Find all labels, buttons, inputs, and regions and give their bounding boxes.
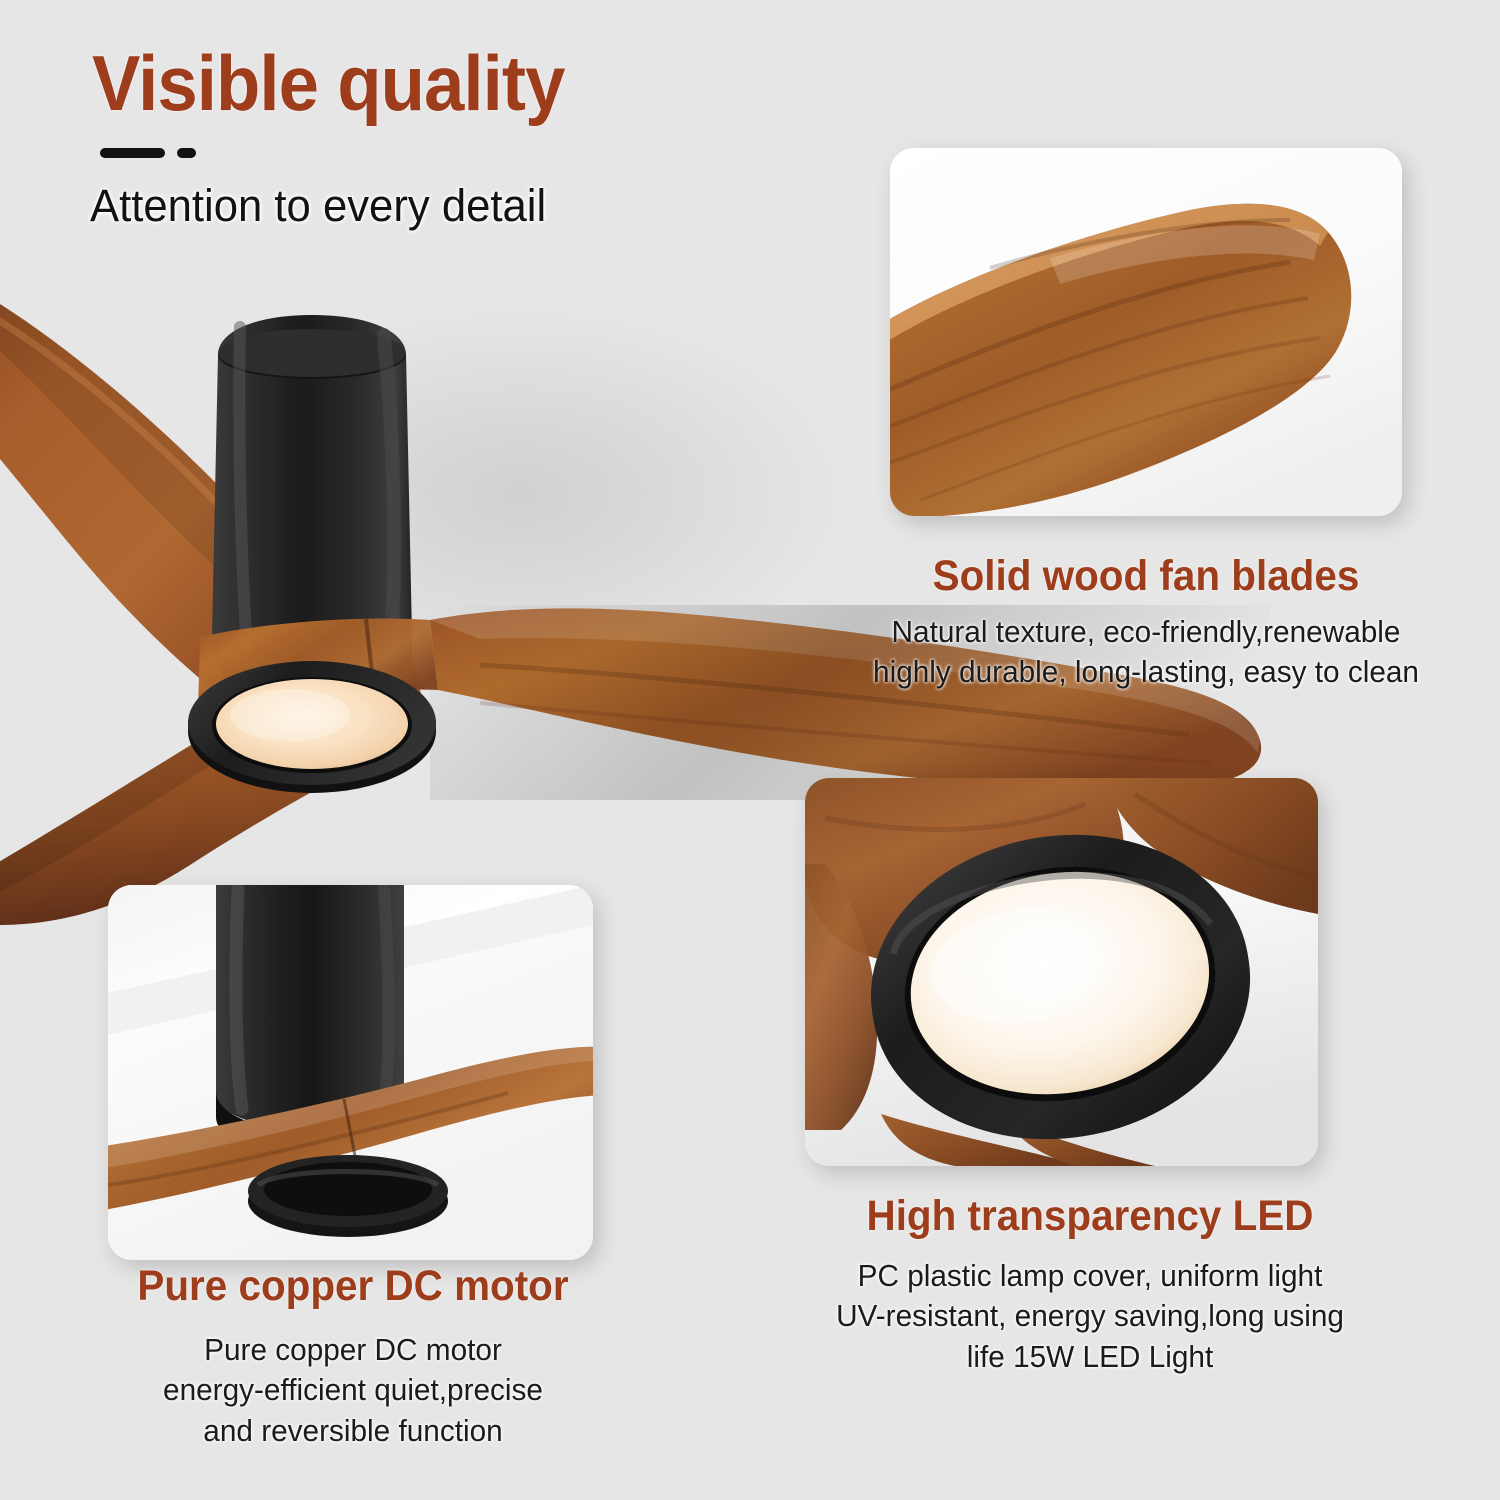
- infographic-root: Visible quality Attention to every detai…: [0, 0, 1500, 1500]
- card-solid-wood-fan-blades[interactable]: [890, 148, 1402, 516]
- blade-closeup-image: [890, 148, 1402, 516]
- feature-body-line: Natural texture, eco-friendly,renewable: [862, 612, 1430, 652]
- dash-short-icon: [177, 148, 196, 158]
- feature-body-line: and reversible function: [70, 1411, 636, 1451]
- page-title: Visible quality: [92, 38, 565, 129]
- feature-body-line: PC plastic lamp cover, uniform light: [783, 1256, 1397, 1296]
- feature-body-line: Pure copper DC motor: [70, 1330, 636, 1370]
- feature-body-line: energy-efficient quiet,precise: [70, 1370, 636, 1410]
- feature-heading-solid-wood-fan-blades: Solid wood fan blades: [905, 552, 1386, 601]
- dash-long-icon: [100, 148, 165, 158]
- feature-body-solid-wood-fan-blades: Natural texture, eco-friendly,renewable …: [862, 612, 1430, 693]
- led-closeup-image: [805, 778, 1318, 1166]
- card-pure-copper-dc-motor[interactable]: [108, 885, 593, 1260]
- feature-body-line: UV-resistant, energy saving,long using: [783, 1296, 1397, 1336]
- feature-body-line: life 15W LED Light: [783, 1337, 1397, 1377]
- feature-body-line: highly durable, long-lasting, easy to cl…: [862, 652, 1430, 692]
- card-high-transparency-led[interactable]: [805, 778, 1318, 1166]
- feature-body-high-transparency-led: PC plastic lamp cover, uniform light UV-…: [783, 1256, 1397, 1377]
- feature-heading-pure-copper-dc-motor: Pure copper DC motor: [85, 1262, 621, 1311]
- dc-motor-closeup-image: [108, 885, 593, 1260]
- page-subtitle: Attention to every detail: [90, 180, 546, 232]
- feature-body-pure-copper-dc-motor: Pure copper DC motor energy-efficient qu…: [70, 1330, 636, 1451]
- feature-heading-high-transparency-led: High transparency LED: [799, 1192, 1382, 1241]
- dash-divider: [100, 148, 196, 158]
